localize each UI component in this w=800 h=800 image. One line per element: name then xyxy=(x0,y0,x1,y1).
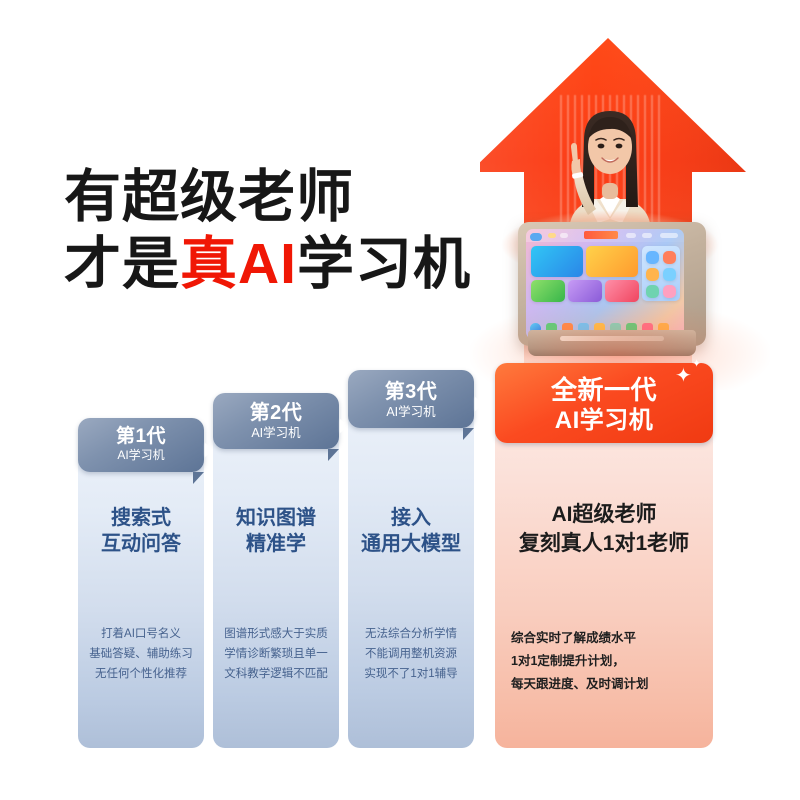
card-tail-2 xyxy=(328,449,339,461)
app-tile xyxy=(646,268,659,281)
card-subtitle-1: AI学习机 xyxy=(78,448,204,463)
card-subtitle-3: AI学习机 xyxy=(348,404,474,420)
promo-card xyxy=(531,246,583,277)
card-point: 无法综合分析学情 xyxy=(348,624,474,644)
card-title-line: 互动问答 xyxy=(78,531,204,557)
card-subtitle-2: AI学习机 xyxy=(213,425,339,441)
card-title-line: 复刻真人1对1老师 xyxy=(495,529,713,558)
chevron-right-icon xyxy=(340,419,348,433)
card-title-line: 精准学 xyxy=(213,531,339,557)
card-title-4: AI超级老师 复刻真人1对1老师 xyxy=(495,500,713,558)
card-title-2: 知识图谱 精准学 xyxy=(213,505,339,557)
card-title-line: 通用大模型 xyxy=(348,531,474,557)
card-title-1: 搜索式 互动问答 xyxy=(78,505,204,557)
nav-pill xyxy=(560,233,568,238)
card-title-3: 接入 通用大模型 xyxy=(348,505,474,557)
app-logo xyxy=(584,231,618,239)
card-title-line: AI超级老师 xyxy=(495,500,713,529)
tablet-stand xyxy=(528,330,696,356)
card-point: 基础答疑、辅助练习 xyxy=(78,644,204,664)
card-title-line: 搜索式 xyxy=(78,505,204,531)
nav-pill xyxy=(642,233,652,238)
card-point: 实现不了1对1辅导 xyxy=(348,664,474,684)
card-point: 不能调用整机资源 xyxy=(348,644,474,664)
sparkle-icon: ✦ xyxy=(675,366,692,386)
card-point: 文科教学逻辑不匹配 xyxy=(213,664,339,684)
stylus xyxy=(560,336,664,341)
card-title-line: 接入 xyxy=(348,505,474,531)
sparkle-icon: ✦ xyxy=(692,359,701,370)
headline-line-2-pre: 才是 xyxy=(64,232,180,296)
app-tile xyxy=(663,251,676,264)
headline: 有超级老师 才是真AI学习机 xyxy=(64,166,494,296)
card-header-2: 第2代 AI学习机 xyxy=(213,393,339,449)
nav-pill xyxy=(626,233,636,238)
promo-card xyxy=(531,280,565,302)
card-point: 学情诊断繁琐且单一 xyxy=(213,644,339,664)
card-tail-3 xyxy=(463,428,474,440)
tablet-screen xyxy=(526,229,684,339)
app-tile xyxy=(646,251,659,264)
card-subtitle-4: AI学习机 xyxy=(495,406,713,435)
card-point: 每天跟进度、及时调计划 xyxy=(511,673,713,696)
card-point: 无任何个性化推荐 xyxy=(78,664,204,684)
headline-line-2: 才是真AI学习机 xyxy=(64,233,494,296)
card-title-line: 知识图谱 xyxy=(213,505,339,531)
card-points-3: 无法综合分析学情 不能调用整机资源 实现不了1对1辅导 xyxy=(348,624,474,684)
nav-pill xyxy=(660,233,678,238)
card-points-2: 图谱形式感大于实质 学情诊断繁琐且单一 文科教学逻辑不匹配 xyxy=(213,624,339,684)
card-header-3: 第3代 AI学习机 xyxy=(348,370,474,428)
promo-card xyxy=(568,280,602,302)
nav-pill xyxy=(530,233,542,241)
chevron-right-icon xyxy=(205,443,213,457)
card-point: 综合实时了解成绩水平 xyxy=(511,627,713,650)
app-tile xyxy=(663,268,676,281)
headline-line-2-post: 学习机 xyxy=(297,232,471,296)
card-generation-2: 第2代 xyxy=(213,402,339,425)
card-header-1: 第1代 AI学习机 xyxy=(78,418,204,472)
card-point: 图谱形式感大于实质 xyxy=(213,624,339,644)
card-point: 打着AI口号名义 xyxy=(78,624,204,644)
promo-card xyxy=(586,246,638,277)
card-points-4: 综合实时了解成绩水平 1对1定制提升计划， 每天跟进度、及时调计划 xyxy=(495,627,713,696)
app-tile xyxy=(663,285,676,298)
card-body-3: 接入 通用大模型 无法综合分析学情 不能调用整机资源 实现不了1对1辅导 xyxy=(348,372,474,748)
card-generation-1: 第1代 xyxy=(78,426,204,448)
card-generation-3: 第3代 xyxy=(348,380,474,404)
nav-pill xyxy=(548,233,556,238)
tablet-body xyxy=(518,222,706,346)
headline-line-1: 有超级老师 xyxy=(64,166,494,229)
poster-canvas: 有超级老师 才是真AI学习机 搜索式 互动问答 打着AI口号名义 基础答疑、辅助… xyxy=(0,0,800,800)
app-tile xyxy=(646,285,659,298)
card-point: 1对1定制提升计划， xyxy=(511,650,713,673)
generation-comparison: 搜索式 互动问答 打着AI口号名义 基础答疑、辅助练习 无任何个性化推荐 第1代… xyxy=(0,355,800,755)
ai-learning-tablet xyxy=(518,222,706,357)
chevron-right-icon xyxy=(475,397,483,411)
card-tail-1 xyxy=(193,472,204,484)
promo-card xyxy=(605,280,639,302)
headline-accent: 真AI xyxy=(180,232,297,296)
card-points-1: 打着AI口号名义 基础答疑、辅助练习 无任何个性化推荐 xyxy=(78,624,204,684)
